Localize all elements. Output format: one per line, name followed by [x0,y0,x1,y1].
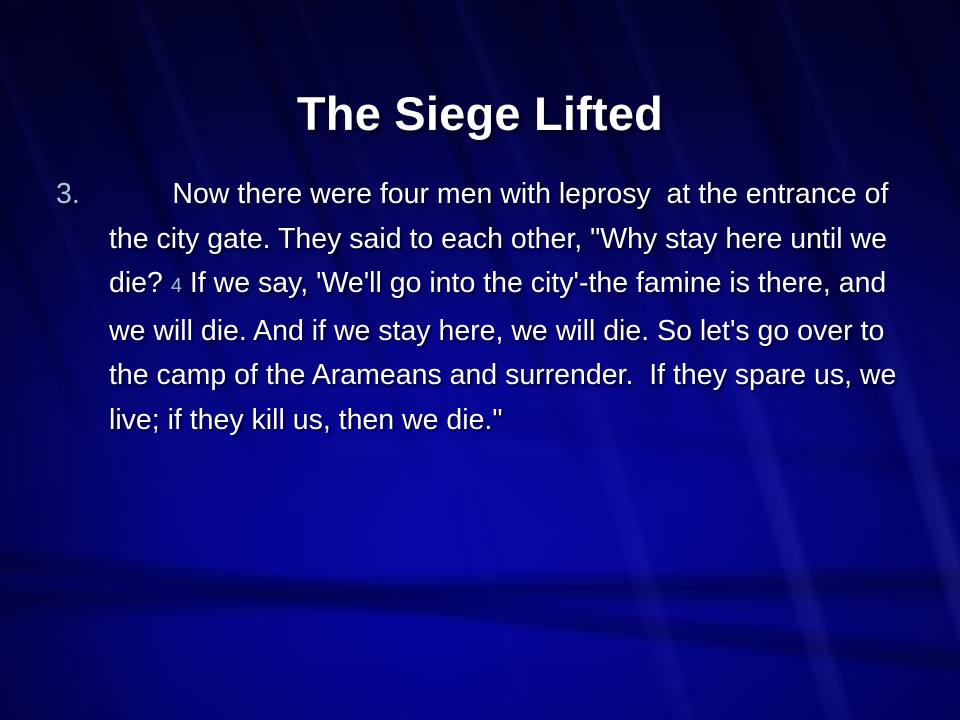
presentation-slide: The Siege Lifted 3. Now there were four … [0,0,960,720]
list-item: 3. Now there were four men with leprosy … [56,172,908,443]
scripture-text-part-two: If we say, 'We'll go into the city'-the … [109,267,904,436]
slide-body: 3. Now there were four men with leprosy … [56,172,908,443]
slide-title: The Siege Lifted [0,88,960,140]
list-item-number: 3. [56,172,109,217]
list-item-text: Now there were four men with leprosy at … [109,172,908,443]
verse-number: 4 [171,275,182,297]
